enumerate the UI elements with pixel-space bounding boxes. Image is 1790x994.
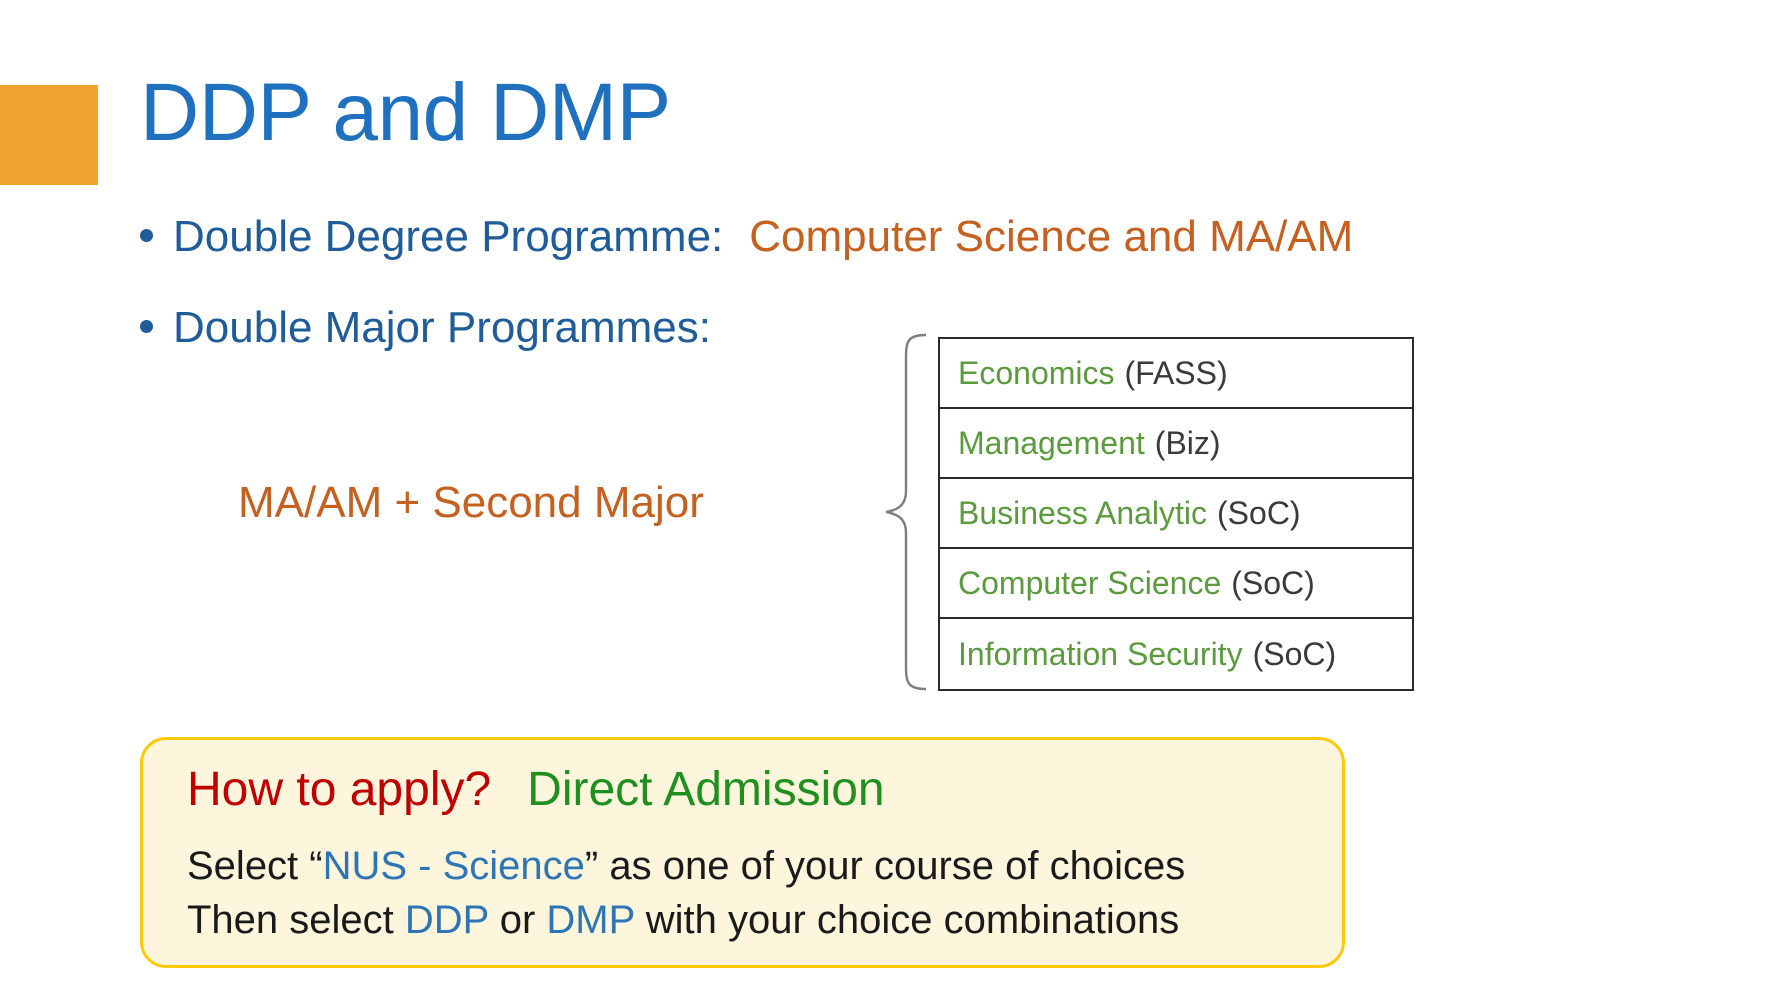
table-row: Economics (FASS) <box>940 339 1412 409</box>
callout-heading-row: How to apply? Direct Admission <box>187 762 885 817</box>
apply-line-1-post: ” as one of your course of choices <box>585 844 1185 888</box>
apply-line-2-post: with your choice combinations <box>635 898 1180 942</box>
bullet-dot-icon <box>140 229 153 242</box>
major-faculty: (SoC) <box>1253 636 1337 673</box>
how-to-apply-callout: How to apply? Direct Admission Select “N… <box>140 737 1345 968</box>
apply-instruction-line-2: Then select DDP or DMP with your choice … <box>187 898 1179 943</box>
major-faculty: (Biz) <box>1155 425 1221 462</box>
table-row: Business Analytic (SoC) <box>940 479 1412 549</box>
table-row: Information Security (SoC) <box>940 619 1412 689</box>
bullet-label-dmp: Double Major Programmes: <box>173 303 711 353</box>
table-row: Computer Science (SoC) <box>940 549 1412 619</box>
direct-admission-answer: Direct Admission <box>527 762 884 817</box>
how-to-apply-question: How to apply? <box>187 762 491 817</box>
nus-science-highlight: NUS - Science <box>323 844 585 888</box>
table-row: Management (Biz) <box>940 409 1412 479</box>
bullet-label-ddp: Double Degree Programme: <box>173 212 723 262</box>
bullet-value-ddp: Computer Science and MA/AM <box>749 212 1353 262</box>
ddp-highlight: DDP <box>405 898 489 942</box>
apply-line-1-pre: Select “ <box>187 844 323 888</box>
major-name: Computer Science <box>958 565 1221 602</box>
major-name: Business Analytic <box>958 495 1207 532</box>
bullet-dot-icon <box>140 320 153 333</box>
title-accent-bar <box>0 85 98 185</box>
major-faculty: (SoC) <box>1231 565 1315 602</box>
dmp-highlight: DMP <box>546 898 634 942</box>
major-name: Information Security <box>958 636 1243 673</box>
apply-line-2-pre: Then select <box>187 898 405 942</box>
major-name: Management <box>958 425 1145 462</box>
bullet-double-major-programmes: Double Major Programmes: <box>140 303 711 353</box>
bullet-double-degree-programme: Double Degree Programme: Computer Scienc… <box>140 212 1353 262</box>
left-curly-brace-icon <box>882 333 928 691</box>
second-major-label: MA/AM + Second Major <box>238 478 704 528</box>
major-name: Economics <box>958 355 1115 392</box>
page-title: DDP and DMP <box>140 70 671 156</box>
majors-table: Economics (FASS) Management (Biz) Busine… <box>938 337 1414 691</box>
major-faculty: (FASS) <box>1125 355 1228 392</box>
apply-line-2-mid: or <box>489 898 547 942</box>
slide-canvas: DDP and DMP Double Degree Programme: Com… <box>0 0 1790 994</box>
major-faculty: (SoC) <box>1217 495 1301 532</box>
apply-instruction-line-1: Select “NUS - Science” as one of your co… <box>187 844 1185 889</box>
